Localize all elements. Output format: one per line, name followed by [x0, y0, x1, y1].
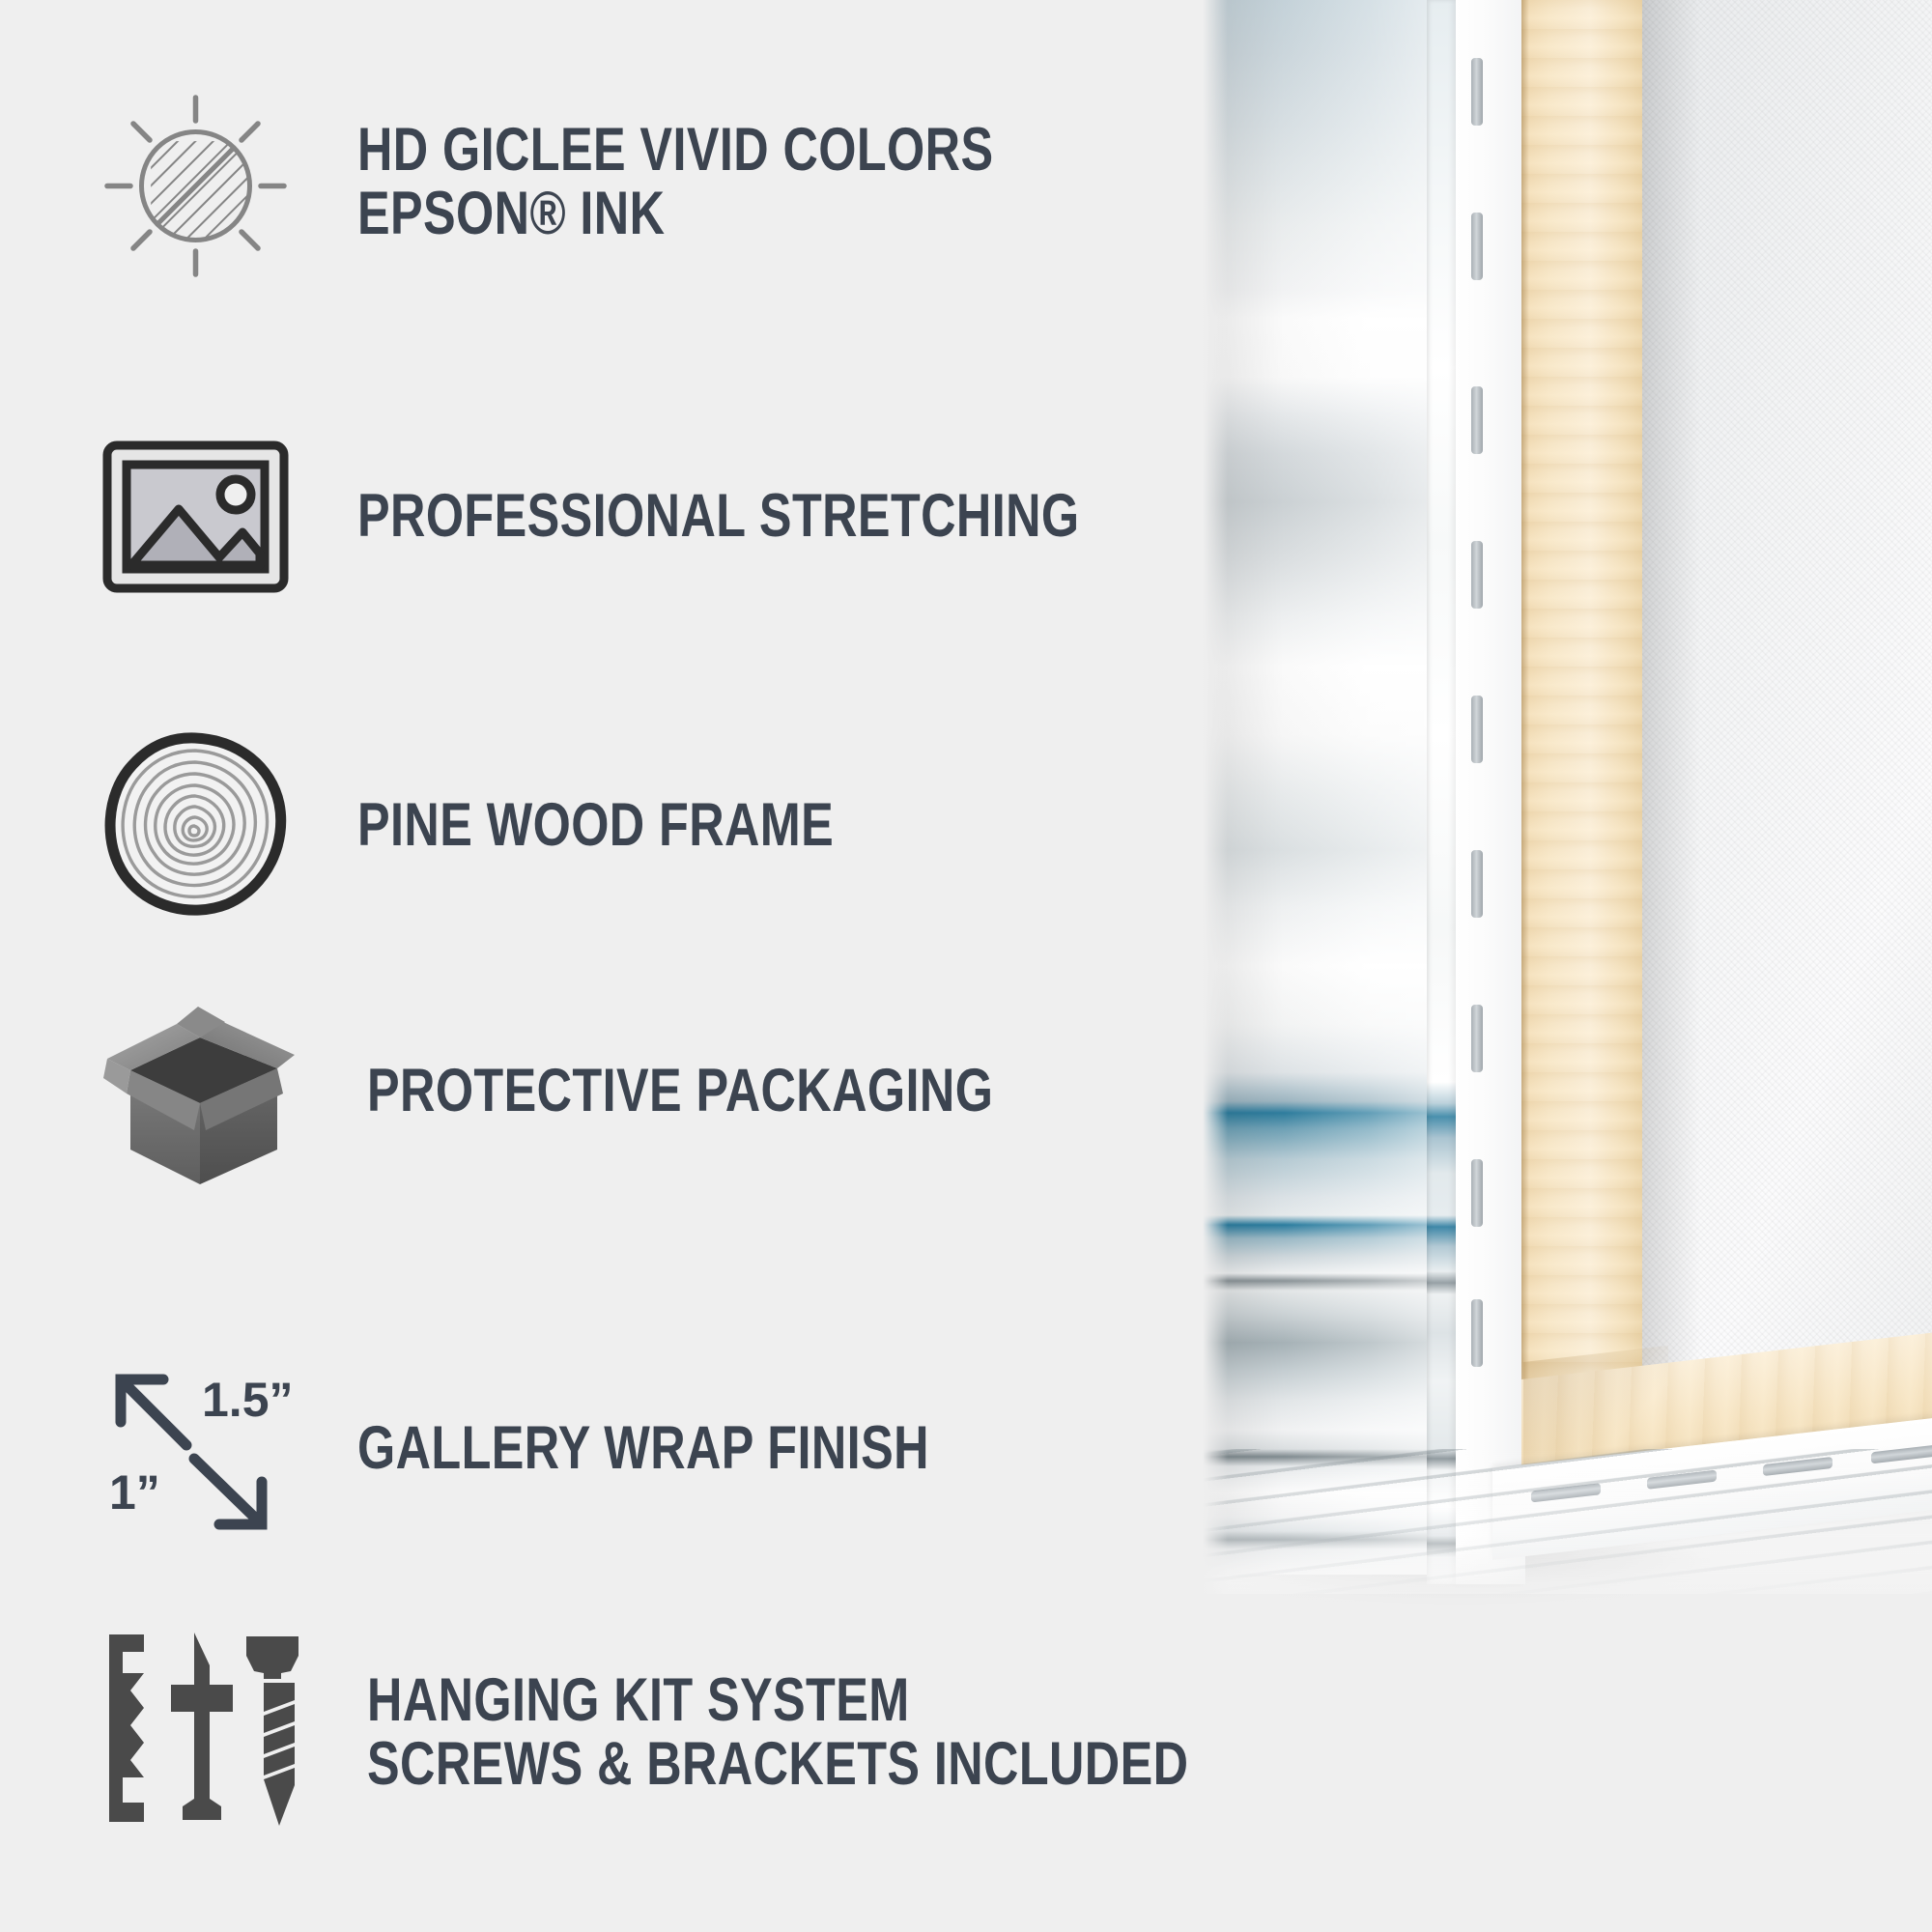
feature-list: HD GICLEE VIVID COLORS EPSON® INK PROFES… [0, 0, 1217, 1932]
feature-protective-packaging: PROTECTIVE PACKAGING [101, 995, 1150, 1188]
depth-label-bottom: 1” [109, 1465, 160, 1520]
feature-label-line: PINE WOOD FRAME [357, 794, 834, 858]
feature-label-line: PROTECTIVE PACKAGING [367, 1060, 993, 1123]
feature-label: HANGING KIT SYSTEM SCREWS & BRACKETS INC… [367, 1669, 1188, 1796]
canvas-wrap-band [1456, 0, 1525, 1584]
picture-frame-icon [101, 440, 290, 594]
feature-label: PROTECTIVE PACKAGING [367, 1060, 993, 1123]
sun-icon [101, 92, 290, 280]
feature-label: PINE WOOD FRAME [357, 794, 834, 858]
depth-label-top: 1.5” [202, 1373, 294, 1427]
tree-ring-icon [101, 734, 290, 918]
feature-label-line: GALLERY WRAP FINISH [357, 1417, 929, 1481]
feature-label: PROFESSIONAL STRETCHING [357, 485, 1080, 549]
feature-label: HD GICLEE VIVID COLORS EPSON® INK [357, 119, 993, 245]
infographic-canvas: HD GICLEE VIVID COLORS EPSON® INK PROFES… [0, 0, 1932, 1932]
canvas-back-shadow [1642, 0, 1700, 1420]
pine-stretcher-bar-vertical [1521, 0, 1647, 1401]
feature-pine-wood-frame: PINE WOOD FRAME [101, 734, 953, 918]
stretcher-bar-edge-shadow [1521, 0, 1529, 1401]
feature-hd-giclee: HD GICLEE VIVID COLORS EPSON® INK [101, 92, 1152, 280]
feature-gallery-wrap-finish: 1.5” 1” GALLERY WRAP FINISH [101, 1362, 1072, 1536]
staple [1471, 386, 1483, 454]
open-box-icon [101, 995, 299, 1188]
feature-professional-stretching: PROFESSIONAL STRETCHING [101, 440, 1260, 594]
staple [1471, 1299, 1483, 1367]
feature-hanging-kit: HANGING KIT SYSTEM SCREWS & BRACKETS INC… [101, 1623, 1394, 1840]
feature-label-line: PROFESSIONAL STRETCHING [357, 485, 1080, 549]
feature-label: GALLERY WRAP FINISH [357, 1417, 929, 1481]
photo-bottom-feather [1203, 1536, 1932, 1652]
feature-label-line: SCREWS & BRACKETS INCLUDED [367, 1733, 1188, 1797]
hardware-icon [101, 1623, 299, 1840]
staple [1471, 1159, 1483, 1227]
staple [1471, 58, 1483, 126]
staple [1471, 850, 1483, 918]
canvas-print-corner-photo [1203, 0, 1932, 1604]
staple [1471, 541, 1483, 609]
photo-left-feather [1203, 0, 1228, 1604]
staple [1471, 213, 1483, 280]
wrap-side-shading [1203, 0, 1435, 1575]
feature-label-line: EPSON® INK [357, 183, 993, 246]
depth-arrows-icon: 1.5” 1” [101, 1362, 290, 1536]
feature-label-line: HANGING KIT SYSTEM [367, 1669, 1188, 1733]
staple [1471, 1005, 1483, 1072]
staple [1471, 696, 1483, 763]
feature-label-line: HD GICLEE VIVID COLORS [357, 119, 993, 183]
